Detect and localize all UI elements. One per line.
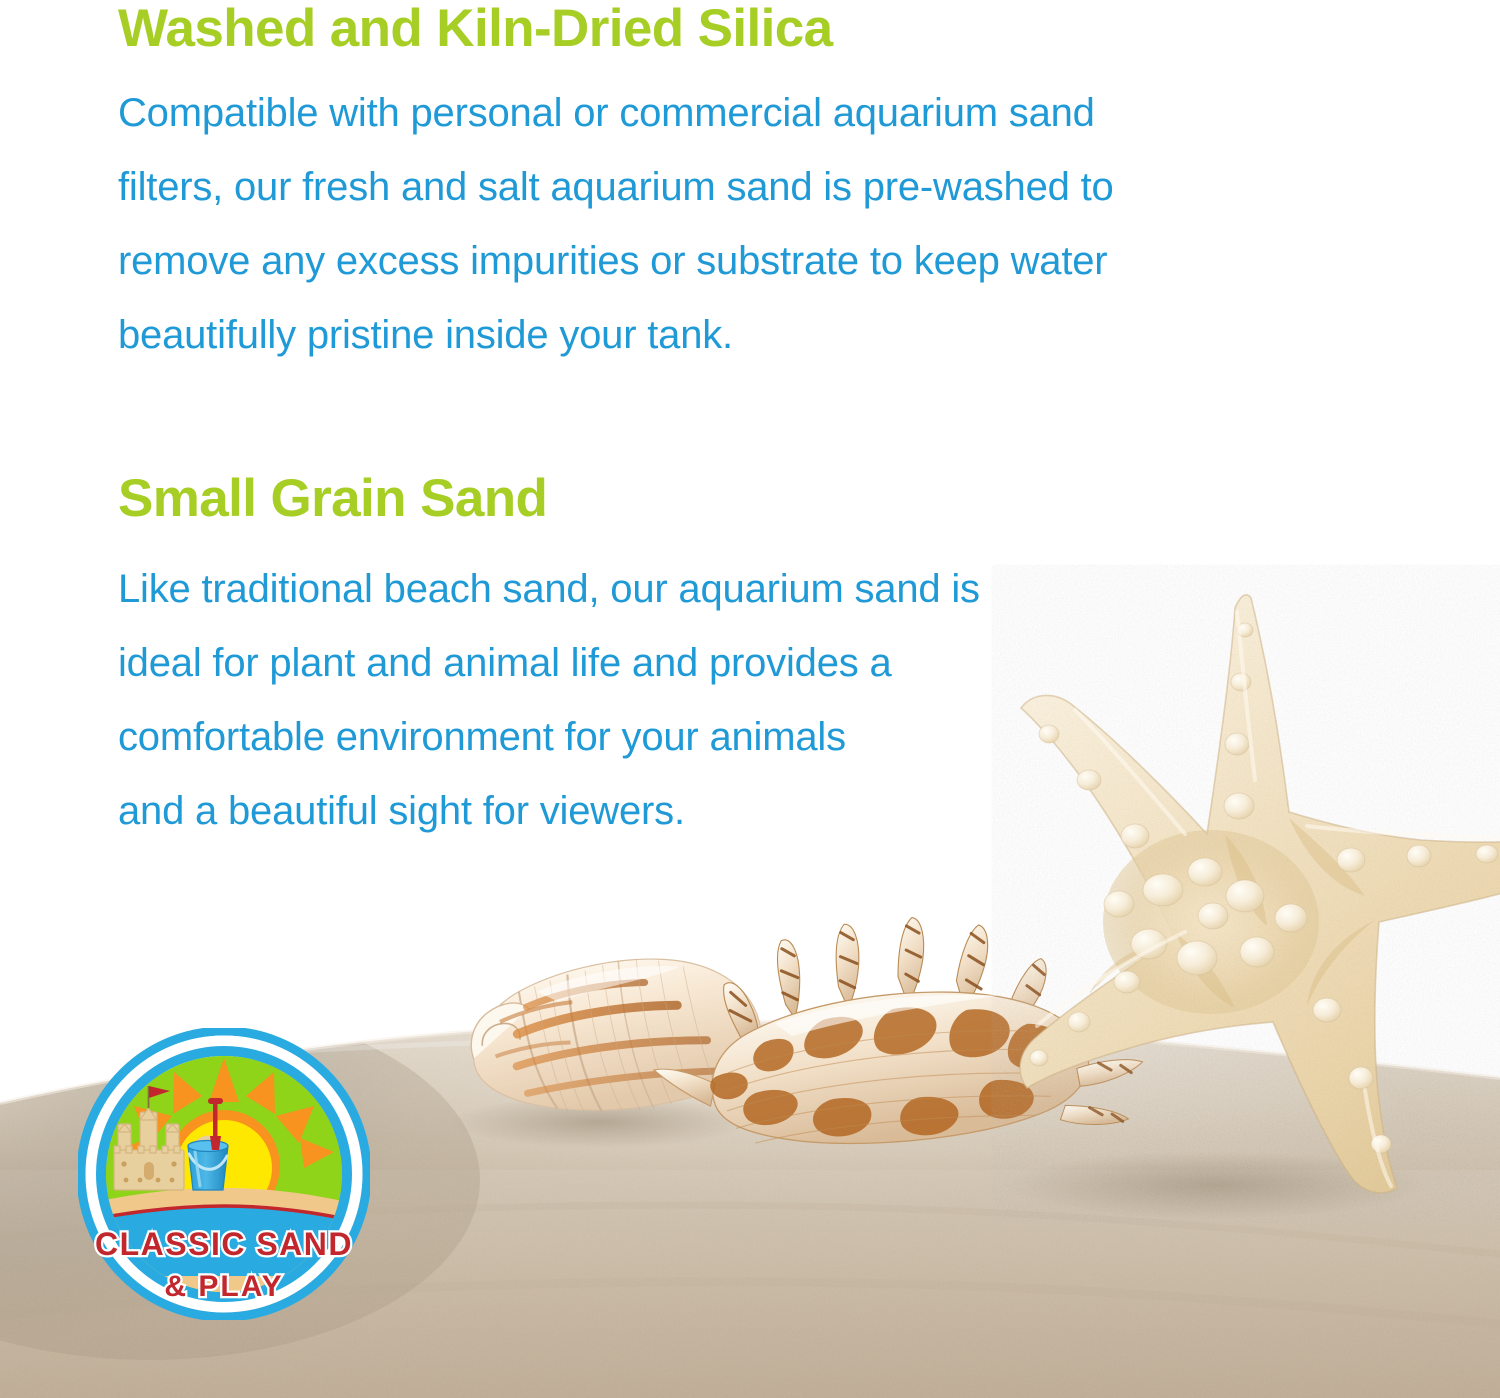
logo-brand-line-2: & PLAY — [164, 1270, 283, 1303]
body-washed-kiln-dried-silica: Compatible with personal or commercial a… — [118, 76, 1368, 372]
body-line: comfortable environment for your animals — [118, 700, 1198, 774]
logo-bucket — [188, 1136, 228, 1191]
classic-sand-and-play-logo: CLASSIC SAND & PLAY — [78, 1028, 370, 1320]
feature-section-silica: Washed and Kiln-Dried Silica Compatible … — [118, 0, 1378, 372]
logo-brand-line-1: CLASSIC SAND — [95, 1226, 353, 1262]
body-line: ideal for plant and animal life and prov… — [118, 626, 1198, 700]
heading-washed-kiln-dried-silica: Washed and Kiln-Dried Silica — [118, 0, 1378, 58]
body-line: remove any excess impurities or substrat… — [118, 224, 1368, 298]
body-line: and a beautiful sight for viewers. — [118, 774, 1198, 848]
body-line: beautifully pristine inside your tank. — [118, 298, 1368, 372]
body-small-grain-sand: Like traditional beach sand, our aquariu… — [118, 552, 1198, 848]
body-line: filters, our fresh and salt aquarium san… — [118, 150, 1368, 224]
product-feature-image: Washed and Kiln-Dried Silica Compatible … — [0, 0, 1500, 1398]
body-line: Like traditional beach sand, our aquariu… — [118, 552, 1198, 626]
body-line: Compatible with personal or commercial a… — [118, 76, 1368, 150]
heading-small-grain-sand: Small Grain Sand — [118, 470, 1218, 528]
feature-section-small-grain: Small Grain Sand Like traditional beach … — [118, 470, 1218, 848]
